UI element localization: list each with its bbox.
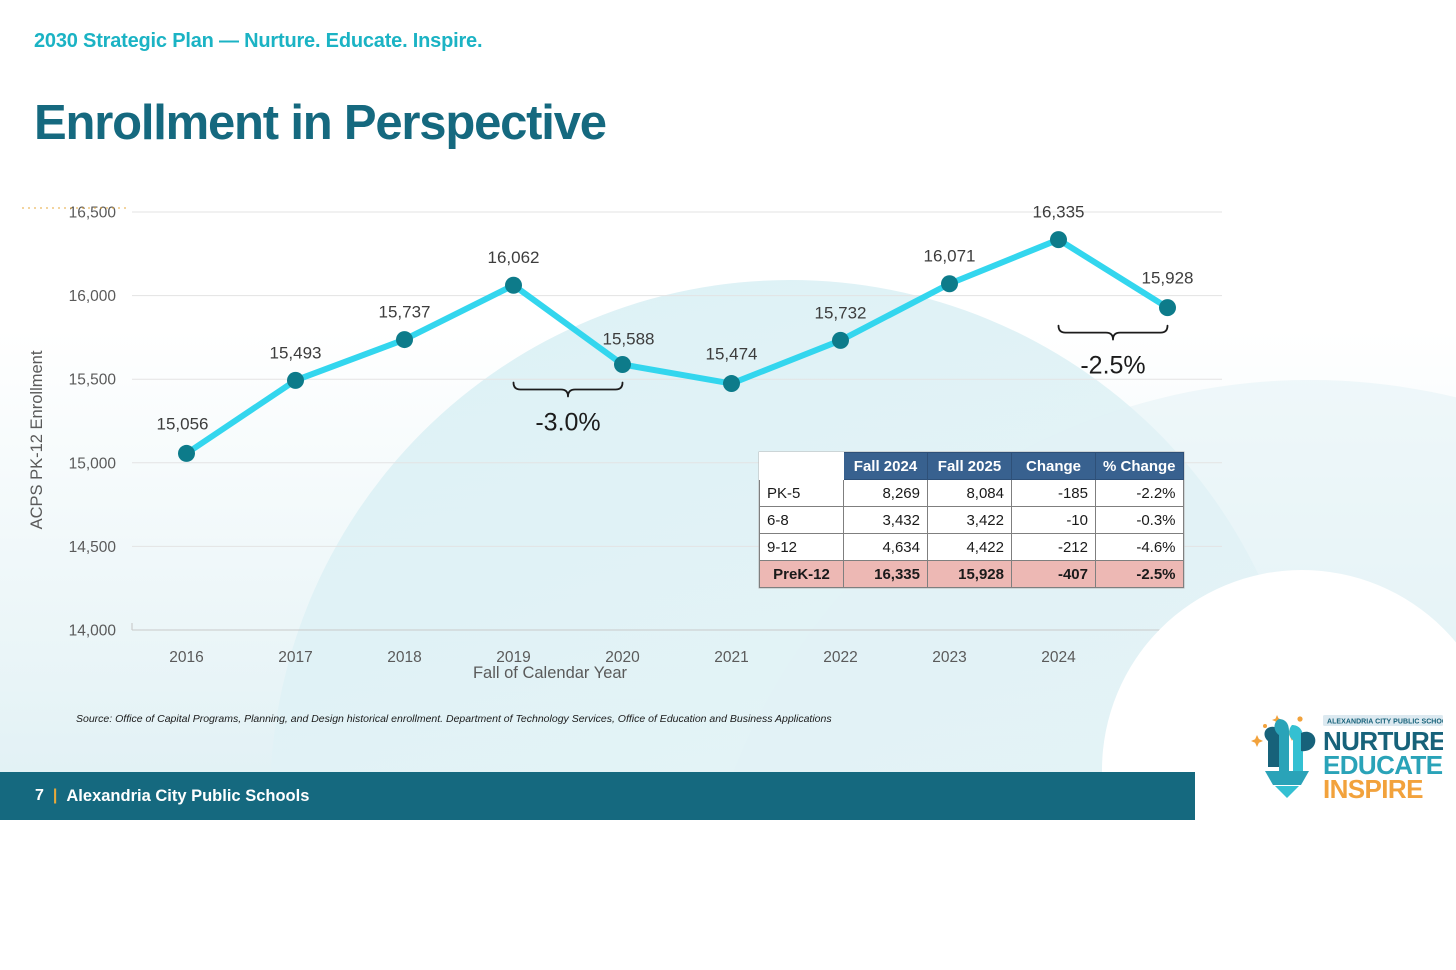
cell-fall2025: 8,084 [928, 480, 1012, 507]
footer-organization: Alexandria City Public Schools [66, 787, 309, 806]
table-header: Fall 2024 Fall 2025 Change % Change [760, 453, 1184, 480]
cell-pct-change: -2.5% [1096, 561, 1184, 588]
table-row: PK-58,2698,084-185-2.2% [760, 480, 1184, 507]
data-point-2019 [505, 277, 522, 294]
cell-fall2024: 8,269 [844, 480, 928, 507]
source-note: Source: Office of Capital Programs, Plan… [76, 713, 832, 725]
cell-pct-change: -0.3% [1096, 507, 1184, 534]
data-point-2024 [1050, 231, 1067, 248]
acps-nurture-educate-inspire-logo: ALEXANDRIA CITY PUBLIC SCHOOLS NURTURE E… [1237, 703, 1443, 808]
cell-fall2025: 3,422 [928, 507, 1012, 534]
footer-page-number: 7 [35, 787, 44, 805]
data-label-2019: 16,062 [488, 248, 540, 267]
cell-fall2025: 4,422 [928, 534, 1012, 561]
data-point-2018 [396, 331, 413, 348]
x-tick-2022: 2022 [823, 649, 857, 666]
data-point-2023 [941, 275, 958, 292]
page-title: Enrollment in Perspective [34, 95, 606, 151]
cell-change: -10 [1012, 507, 1096, 534]
data-label-2021: 15,474 [706, 345, 758, 364]
data-label-2018: 15,737 [379, 303, 431, 322]
x-tick-2024: 2024 [1041, 649, 1076, 666]
column-header-pct-change: % Change [1096, 453, 1184, 480]
x-tick-2016: 2016 [169, 649, 203, 666]
data-label-2024: 16,335 [1033, 203, 1085, 222]
table-row: 6-83,4323,422-10-0.3% [760, 507, 1184, 534]
cell-label: PK-5 [760, 480, 844, 507]
x-tick-2017: 2017 [278, 649, 312, 666]
enrollment-series [187, 240, 1168, 454]
cell-label: 9-12 [760, 534, 844, 561]
x-axis-tick-labels: 2016201720182019202020212022202320242025 [169, 649, 1184, 666]
cell-label: PreK-12 [760, 561, 844, 588]
slide-header: 2030 Strategic Plan — Nurture. Educate. … [34, 30, 606, 151]
cell-label: 6-8 [760, 507, 844, 534]
brace-annotation--2.5%: -2.5% [1059, 326, 1168, 380]
cell-fall2024: 16,335 [844, 561, 928, 588]
data-point-2017 [287, 372, 304, 389]
y-tick-15000: 15,000 [69, 455, 117, 472]
enrollment-line-chart: 14,00014,50015,00015,50016,00016,500 201… [0, 190, 1260, 690]
cell-pct-change: -4.6% [1096, 534, 1184, 561]
y-tick-15500: 15,500 [69, 372, 117, 389]
y-axis-title: ACPS PK-12 Enrollment [28, 350, 46, 529]
data-point-labels: 15,05615,49315,73716,06215,58815,47415,7… [157, 203, 1194, 434]
data-point-2022 [832, 332, 849, 349]
data-label-2023: 16,071 [924, 247, 976, 266]
table-body: PK-58,2698,084-185-2.2%6-83,4323,422-10-… [760, 480, 1184, 588]
logo-tagline: ALEXANDRIA CITY PUBLIC SCHOOLS [1327, 719, 1443, 726]
cell-pct-change: -2.2% [1096, 480, 1184, 507]
data-point-2025 [1159, 299, 1176, 316]
data-label-2016: 15,056 [157, 414, 209, 433]
data-point-2016 [178, 445, 195, 462]
y-tick-16500: 16,500 [69, 205, 117, 222]
logo-line-inspire: INSPIRE [1323, 774, 1423, 804]
cell-fall2025: 15,928 [928, 561, 1012, 588]
cell-fall2024: 3,432 [844, 507, 928, 534]
data-label-2020: 15,588 [603, 329, 655, 348]
cell-change: -212 [1012, 534, 1096, 561]
x-tick-2021: 2021 [714, 649, 748, 666]
enrollment-comparison-table: Fall 2024 Fall 2025 Change % Change PK-5… [759, 452, 1184, 588]
enrollment-markers [178, 231, 1176, 462]
y-tick-16000: 16,000 [69, 288, 117, 305]
table-corner-cell [760, 453, 844, 480]
column-header-fall-2025: Fall 2025 [928, 453, 1012, 480]
chart-svg: 14,00014,50015,00015,50016,00016,500 201… [0, 190, 1260, 690]
column-header-fall-2024: Fall 2024 [844, 453, 928, 480]
brace-annotation--3.0%: -3.0% [514, 382, 623, 436]
table-header-row: Fall 2024 Fall 2025 Change % Change [760, 453, 1184, 480]
cell-fall2024: 4,634 [844, 534, 928, 561]
cell-change: -407 [1012, 561, 1096, 588]
data-label-2025: 15,928 [1142, 269, 1194, 288]
cell-change: -185 [1012, 480, 1096, 507]
footer-separator: | [53, 787, 57, 805]
data-point-2021 [723, 375, 740, 392]
table-row: PreK-1216,33515,928-407-2.5% [760, 561, 1184, 588]
y-tick-14000: 14,000 [69, 623, 117, 640]
data-label-2022: 15,732 [815, 303, 867, 322]
x-tick-2018: 2018 [387, 649, 421, 666]
brace-label-1: -2.5% [1080, 352, 1145, 380]
y-axis-tick-labels: 14,00014,50015,00015,50016,00016,500 [69, 205, 117, 640]
y-tick-14500: 14,500 [69, 539, 117, 556]
x-axis-title: Fall of Calendar Year [473, 664, 628, 682]
logo-pencil-mark-icon [1264, 719, 1315, 798]
column-header-change: Change [1012, 453, 1096, 480]
table-row: 9-124,6344,422-212-4.6% [760, 534, 1184, 561]
x-tick-2023: 2023 [932, 649, 966, 666]
data-point-2020 [614, 356, 631, 373]
data-label-2017: 15,493 [270, 343, 322, 362]
footer-bar: 7 | Alexandria City Public Schools [0, 772, 1195, 820]
eyebrow-text: 2030 Strategic Plan — Nurture. Educate. … [34, 30, 606, 53]
brace-label-0: -3.0% [535, 408, 600, 436]
